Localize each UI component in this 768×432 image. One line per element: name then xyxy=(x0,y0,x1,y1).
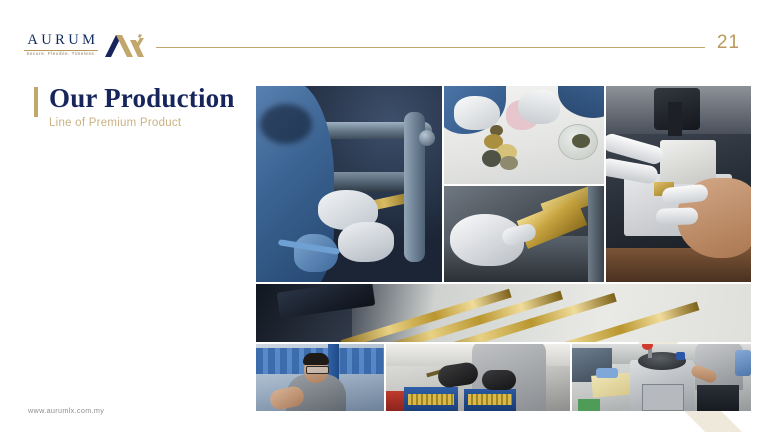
collage-photo-rolling-mill xyxy=(256,86,442,282)
page-subtitle: Line of Premium Product xyxy=(49,117,181,129)
title-accent-bar xyxy=(34,87,38,117)
collage-photo-lab-equipment xyxy=(572,344,751,411)
brand-logo: AURUM Secure. Flexible. Timeless. xyxy=(24,33,145,57)
brand-tagline: Secure. Flexible. Timeless. xyxy=(26,52,96,57)
collage-photo-gold-nuggets-sorting xyxy=(444,86,604,184)
presentation-slide: AURUM Secure. Flexible. Timeless. 21 Our… xyxy=(0,0,768,432)
page-title: Our Production xyxy=(49,84,235,117)
header-divider-line xyxy=(156,47,705,48)
collage-photo-gold-trays-sorting xyxy=(386,344,570,411)
collage-photo-gold-strips-band xyxy=(256,284,751,342)
collage-photo-precision-bench xyxy=(606,86,751,282)
brand-wordmark-group: AURUM Secure. Flexible. Timeless. xyxy=(24,33,98,57)
photo-collage xyxy=(256,86,751,411)
collage-photo-worker-blue-racking xyxy=(256,344,384,411)
brand-wordmark: AURUM xyxy=(24,33,98,48)
collage-photo-gold-bar-handling xyxy=(444,186,604,282)
footer-website-url: www.aurumlx.com.my xyxy=(28,406,104,415)
page-number: 21 xyxy=(717,33,740,52)
alx-monogram-icon xyxy=(103,34,145,58)
slide-title-group: Our Production xyxy=(34,84,235,117)
slide-header: AURUM Secure. Flexible. Timeless. 21 xyxy=(0,0,768,78)
